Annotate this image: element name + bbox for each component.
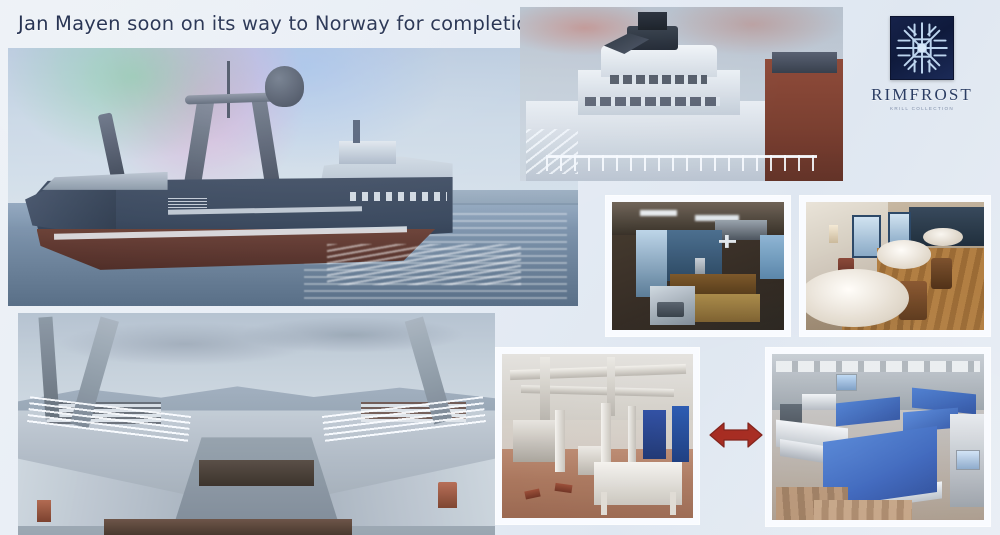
photo-vessel-superstructure-bridge xyxy=(520,7,843,181)
pillar xyxy=(601,403,611,469)
mess-photo-content xyxy=(806,202,984,330)
photo-aft-deck-stern-ramp xyxy=(18,313,495,535)
double-headed-arrow xyxy=(708,418,764,452)
control-panel xyxy=(956,450,979,470)
hero-photo-content xyxy=(8,48,578,306)
wall-sconce xyxy=(829,225,838,243)
presentation-slide: Jan Mayen soon on its way to Norway for … xyxy=(0,0,1000,535)
galley-photo-content xyxy=(612,202,784,330)
bollard xyxy=(37,500,51,522)
deck-rail xyxy=(546,155,817,171)
foreground-beam xyxy=(104,519,352,535)
porthole-row xyxy=(350,192,447,200)
wall-fitting xyxy=(719,235,736,248)
support-beam xyxy=(540,357,550,419)
photo-ship-galley-interior xyxy=(606,196,790,336)
brand-tagline: KRILL COLLECTION xyxy=(852,106,992,111)
mast-head xyxy=(638,12,667,29)
hull-nameplate xyxy=(168,198,208,208)
overhead-piping xyxy=(776,361,980,373)
galley-window xyxy=(760,235,784,279)
superstructure-photo-content xyxy=(520,7,843,181)
pillar xyxy=(555,410,565,472)
table-leg xyxy=(601,492,607,515)
bollard xyxy=(438,482,457,509)
antenna-mast xyxy=(227,61,230,118)
cabin-windows xyxy=(585,97,721,106)
dining-table xyxy=(923,228,962,246)
bridge-tower xyxy=(339,141,396,164)
factory-equipped-photo-content xyxy=(772,354,984,520)
blue-tank xyxy=(672,406,689,462)
page-title: Jan Mayen soon on its way to Norway for … xyxy=(18,12,541,35)
wake-ripples xyxy=(327,244,521,285)
photo-vessel-exterior-at-sea xyxy=(8,48,578,306)
floor-debris xyxy=(555,482,573,492)
ramp-opening xyxy=(199,460,313,487)
aft-deck-photo-content xyxy=(18,313,495,535)
photo-ship-mess-room-interior xyxy=(800,196,990,336)
snowflake-crystal-icon xyxy=(890,16,954,80)
radar-dome xyxy=(265,66,305,107)
bridge-windows xyxy=(610,75,707,84)
adjacent-vessel-deckhouse xyxy=(772,52,837,73)
brand-logo: RIMFROST KRILL COLLECTION xyxy=(852,16,992,128)
timber-staging xyxy=(814,500,912,520)
external-stairway xyxy=(526,129,578,174)
sink-basin xyxy=(657,302,685,317)
stainless-frame xyxy=(802,394,836,411)
main-mast xyxy=(353,120,360,143)
pillar xyxy=(628,406,636,462)
dining-chair xyxy=(931,258,952,289)
ceiling-light xyxy=(640,210,678,216)
table-leg xyxy=(670,492,676,515)
dining-table xyxy=(877,240,930,268)
control-panel xyxy=(836,374,857,391)
factory-empty-photo-content xyxy=(502,354,693,518)
blue-tank xyxy=(643,410,666,459)
photo-factory-deck-unfitted xyxy=(496,348,699,524)
machinery-unit xyxy=(513,420,559,463)
photo-factory-deck-processing-line xyxy=(766,348,990,526)
brand-wordmark: RIMFROST xyxy=(852,85,992,105)
